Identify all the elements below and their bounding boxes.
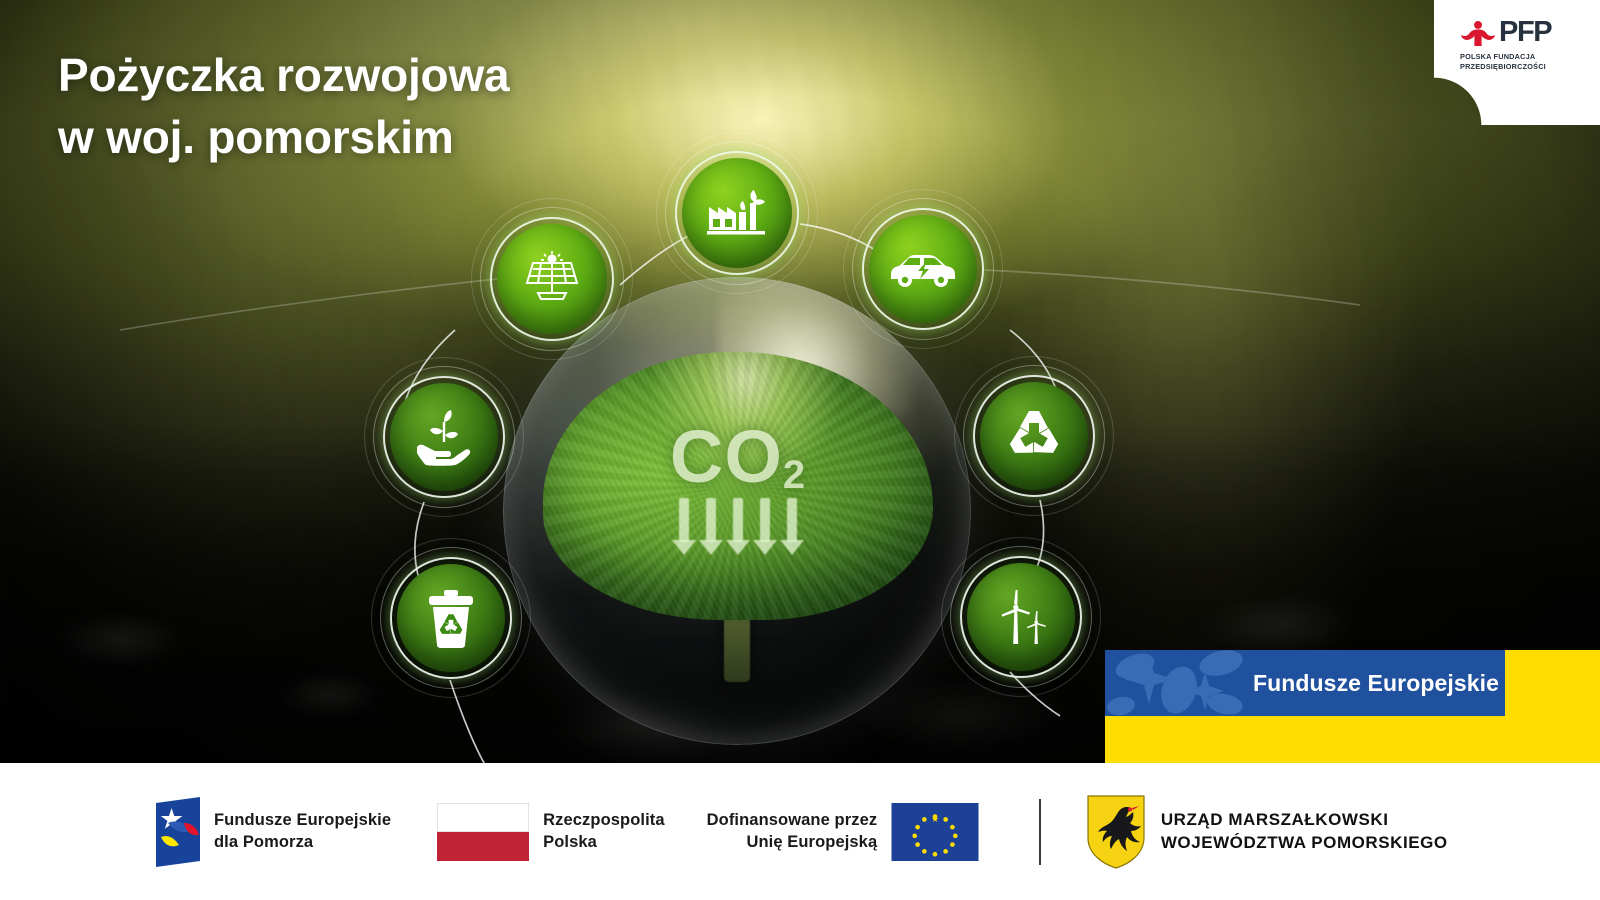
pfp-subtitle-line2: PRZEDSIĘBIORCZOŚCI <box>1460 62 1582 72</box>
co2-down-arrows <box>543 498 933 542</box>
co2-text: CO <box>670 415 783 498</box>
recycle-symbol-icon[interactable] <box>980 382 1088 490</box>
down-arrow-icon <box>733 498 743 542</box>
title-line-1: Pożyczka rozwojowa <box>58 45 509 107</box>
pfp-logo-panel: PFP POLSKA FUNDACJA PRZEDSIĘBIORCZOŚCI <box>1434 0 1600 125</box>
wind-turbine-icon[interactable] <box>967 563 1075 671</box>
pomeranian-griffin-crest <box>1085 794 1147 870</box>
fe-badge-star-pattern <box>1105 650 1247 716</box>
footer-bar: Fundusze Europejskie dla Pomorza Rzeczpo… <box>0 763 1600 900</box>
footer-label-line1: Dofinansowane przez <box>707 810 878 831</box>
footer-label-line1: Fundusze Europejskie <box>214 810 391 831</box>
electric-car-glyph <box>887 249 959 289</box>
footer-logo-european-union: Dofinansowane przez Unię Europejską <box>707 803 980 861</box>
recycle-glyph <box>1004 407 1064 465</box>
footer-label-line2: Unię Europejską <box>707 832 878 853</box>
footer-label-line2: dla Pomorza <box>214 832 391 853</box>
banner-stage: CO2 <box>0 0 1600 900</box>
polish-flag <box>437 803 529 861</box>
pfp-subtitle-line1: POLSKA FUNDACJA <box>1460 52 1582 62</box>
down-arrow-icon <box>760 498 770 542</box>
footer-label-line2: Polska <box>543 832 665 853</box>
hand-sprout-icon[interactable] <box>390 383 498 491</box>
european-union-flag <box>891 803 979 861</box>
wind-turbine-glyph <box>989 586 1053 648</box>
solar-glyph <box>519 251 585 307</box>
footer-label-line2: WOJEWÓDZTWA POMORSKIEGO <box>1161 832 1448 855</box>
eco-factory-icon[interactable] <box>682 158 792 268</box>
fe-pattern-glyph <box>1105 650 1247 716</box>
page-title: Pożyczka rozwojowa w woj. pomorskim <box>58 45 509 168</box>
footer-label-line1: Rzeczpospolita <box>543 810 665 831</box>
fe-badge[interactable]: Fundusze Europejskie <box>1105 650 1505 716</box>
footer-divider <box>1039 799 1041 865</box>
fundusze-europejskie-flag-logo <box>156 797 200 867</box>
recycle-bin-icon[interactable] <box>397 564 505 672</box>
down-arrow-icon <box>706 498 716 542</box>
solar-panel-icon[interactable] <box>497 224 607 334</box>
pfp-figure-mark <box>1460 20 1496 46</box>
down-arrow-icon <box>679 498 689 542</box>
fe-badge-label: Fundusze Europejskie <box>1247 650 1505 716</box>
down-arrow-icon <box>787 498 797 542</box>
title-line-2: w woj. pomorskim <box>58 107 509 169</box>
recycle-bin-glyph <box>423 588 479 648</box>
footer-label-line1: URZĄD MARSZAŁKOWSKI <box>1161 809 1448 832</box>
footer-logo-rzeczpospolita-polska: Rzeczpospolita Polska <box>437 803 665 861</box>
co2-subscript: 2 <box>783 453 806 497</box>
pfp-wordmark: PFP <box>1499 18 1551 47</box>
hand-sprout-glyph <box>411 408 477 466</box>
factory-glyph <box>705 186 769 240</box>
footer-logo-urzad-marszalkowski: URZĄD MARSZAŁKOWSKI WOJEWÓDZTWA POMORSKI… <box>1085 794 1448 870</box>
footer-logo-fundusze-europejskie: Fundusze Europejskie dla Pomorza <box>156 797 391 867</box>
electric-car-icon[interactable] <box>869 215 977 323</box>
co2-label: CO2 <box>543 420 933 495</box>
